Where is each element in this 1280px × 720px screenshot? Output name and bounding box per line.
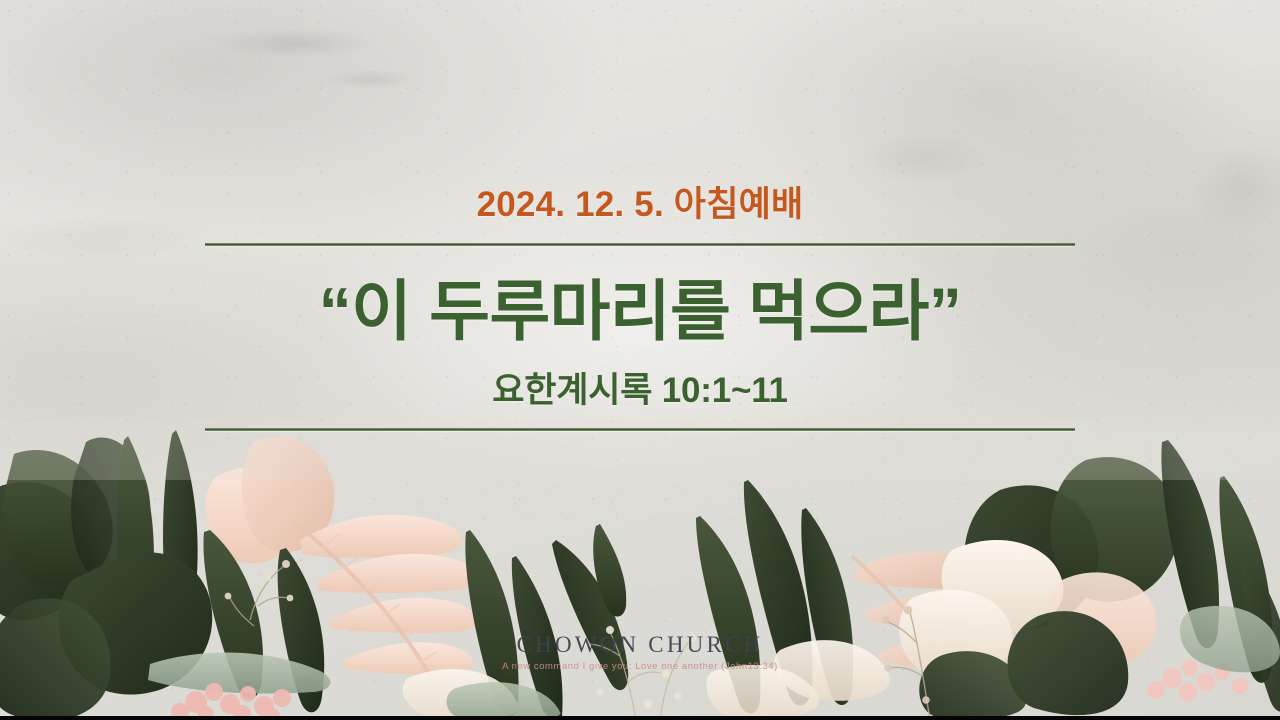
- divider-bottom: [205, 428, 1075, 431]
- sermon-title-slide: 2024. 12. 5. 아침예배 “이 두루마리를 먹으라” 요한계시록 10…: [0, 0, 1280, 720]
- service-date-line: 2024. 12. 5. 아침예배: [477, 186, 804, 225]
- foliage-center-left: [296, 515, 696, 720]
- sermon-text-block: 2024. 12. 5. 아침예배 “이 두루마리를 먹으라” 요한계시록 10…: [0, 186, 1280, 431]
- letterbox-bottom-edge: [0, 716, 1280, 720]
- scripture-reference: 요한계시록 10:1~11: [492, 372, 788, 411]
- botanical-border: [0, 420, 1280, 720]
- divider-top: [205, 243, 1075, 246]
- sermon-title: “이 두루마리를 먹으라”: [319, 275, 962, 349]
- foliage-right: [882, 440, 1280, 720]
